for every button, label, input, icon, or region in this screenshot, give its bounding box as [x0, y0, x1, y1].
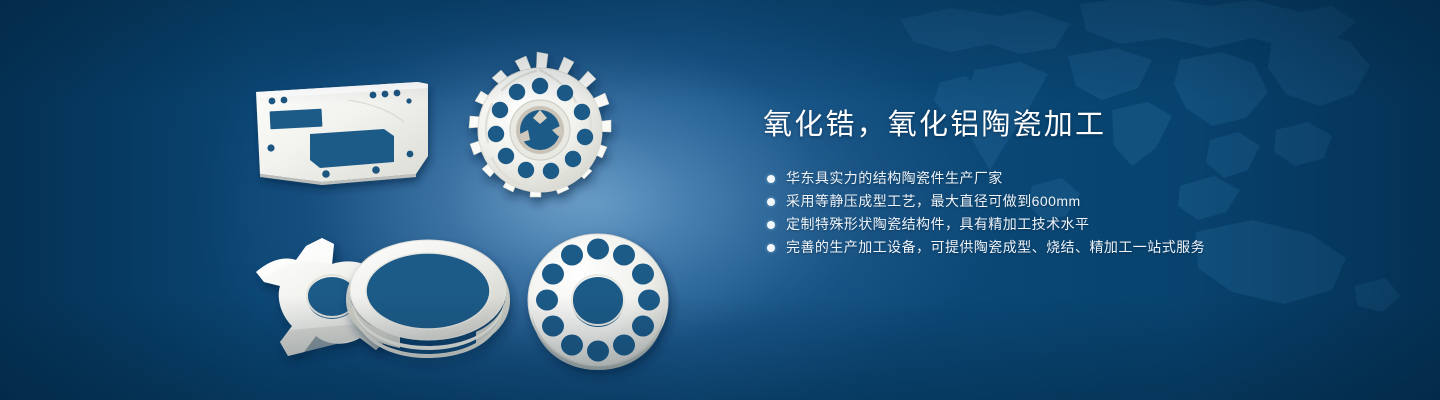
bullet-dot-icon [767, 244, 775, 252]
feature-text: 完善的生产加工设备，可提供陶瓷成型、烧结、精加工一站式服务 [786, 236, 1205, 259]
bullet-dot-icon [767, 221, 775, 229]
list-item: 华东具实力的结构陶瓷件生产厂家 [767, 167, 1383, 190]
headline: 氧化锆，氧化铝陶瓷加工 [763, 108, 1383, 143]
list-item: 完善的生产加工设备，可提供陶瓷成型、烧结、精加工一站式服务 [767, 236, 1383, 259]
hero-banner: 氧化锆，氧化铝陶瓷加工 华东具实力的结构陶瓷件生产厂家 采用等静压成型工艺，最大… [0, 0, 1440, 400]
feature-text: 采用等静压成型工艺，最大直径可做到600mm [786, 190, 1081, 213]
bullet-dot-icon [767, 198, 775, 206]
list-item: 采用等静压成型工艺，最大直径可做到600mm [767, 190, 1383, 213]
promo-copy: 氧化锆，氧化铝陶瓷加工 华东具实力的结构陶瓷件生产厂家 采用等静压成型工艺，最大… [763, 108, 1383, 259]
bullet-dot-icon [767, 175, 775, 183]
feature-list: 华东具实力的结构陶瓷件生产厂家 采用等静压成型工艺，最大直径可做到600mm 定… [767, 167, 1383, 259]
feature-text: 华东具实力的结构陶瓷件生产厂家 [786, 167, 1003, 190]
feature-text: 定制特殊形状陶瓷结构件，具有精加工技术水平 [786, 213, 1089, 236]
list-item: 定制特殊形状陶瓷结构件，具有精加工技术水平 [767, 213, 1383, 236]
